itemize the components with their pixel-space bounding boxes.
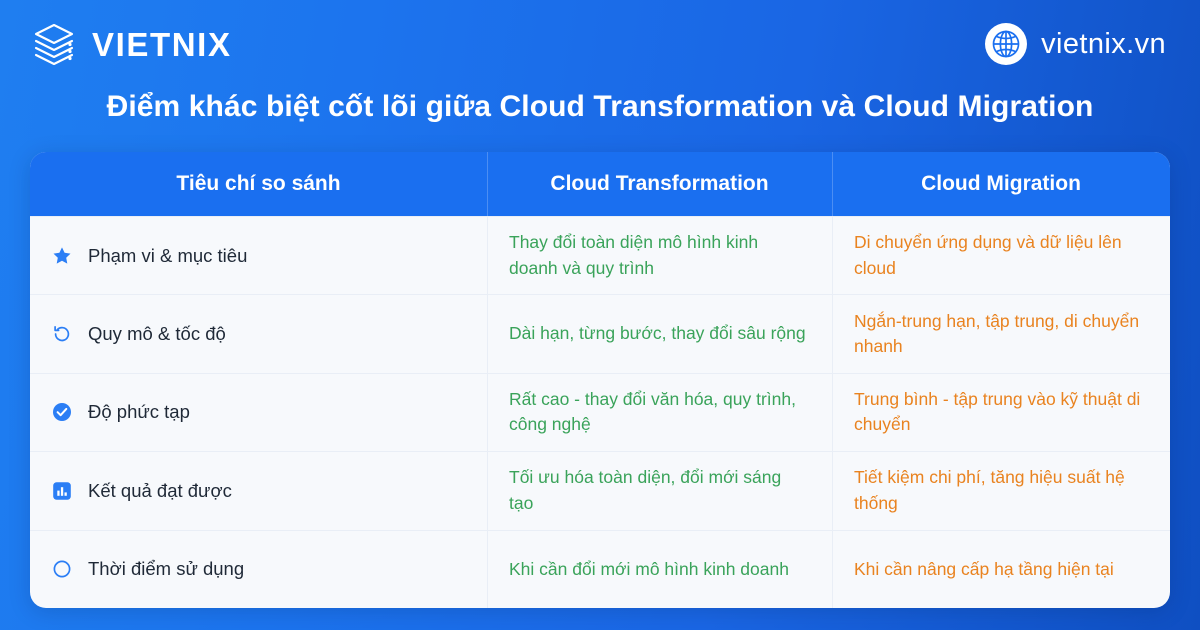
transformation-text: Thay đổi toàn diện mô hình kinh doanh và… (509, 230, 810, 281)
migration-text: Trung bình - tập trung vào kỹ thuật di c… (854, 387, 1148, 438)
criteria-label: Thời điểm sử dụng (88, 558, 244, 580)
criteria-label: Quy mô & tốc độ (88, 323, 226, 345)
stacked-layers-logo-icon (30, 20, 78, 68)
column-header-cloud-transformation: Cloud Transformation (487, 152, 832, 216)
migration-cell: Trung bình - tập trung vào kỹ thuật di c… (832, 374, 1170, 451)
refresh-counterclockwise-icon (52, 324, 72, 344)
migration-text: Ngắn-trung hạn, tập trung, di chuyển nha… (854, 309, 1148, 360)
table-header-row: Tiêu chí so sánh Cloud Transformation Cl… (30, 152, 1170, 216)
migration-cell: Di chuyển ứng dụng và dữ liệu lên cloud (832, 217, 1170, 294)
star-icon (52, 246, 72, 266)
bar-chart-icon (52, 481, 72, 501)
criteria-label: Độ phức tạp (88, 401, 190, 423)
transformation-text: Dài hạn, từng bước, thay đổi sâu rộng (509, 321, 806, 346)
transformation-cell: Tối ưu hóa toàn diện, đổi mới sáng tạo (487, 452, 832, 529)
transformation-cell: Thay đổi toàn diện mô hình kinh doanh và… (487, 217, 832, 294)
table-row: Phạm vi & mục tiêu Thay đổi toàn diện mô… (30, 216, 1170, 294)
migration-cell: Ngắn-trung hạn, tập trung, di chuyển nha… (832, 295, 1170, 372)
check-circle-icon (52, 402, 72, 422)
criteria-label: Kết quả đạt được (88, 480, 232, 502)
criteria-cell: Kết quả đạt được (30, 452, 487, 529)
migration-cell: Khi cần nâng cấp hạ tầng hiện tại (832, 531, 1170, 608)
transformation-cell: Rất cao - thay đổi văn hóa, quy trình, c… (487, 374, 832, 451)
brand-name: VIETNIX (92, 28, 232, 61)
criteria-cell: Độ phức tạp (30, 374, 487, 451)
circle-outline-icon (52, 559, 72, 579)
table-row: Kết quả đạt được Tối ưu hóa toàn diện, đ… (30, 451, 1170, 529)
page-header: VIETNIX vietnix.vn (0, 0, 1200, 88)
transformation-text: Khi cần đổi mới mô hình kinh doanh (509, 557, 789, 582)
page-title: Điểm khác biệt cốt lõi giữa Cloud Transf… (0, 90, 1200, 124)
site-url-text: vietnix.vn (1041, 28, 1166, 61)
globe-icon (985, 23, 1027, 65)
table-row: Quy mô & tốc độ Dài hạn, từng bước, thay… (30, 294, 1170, 372)
transformation-cell: Dài hạn, từng bước, thay đổi sâu rộng (487, 295, 832, 372)
transformation-text: Tối ưu hóa toàn diện, đổi mới sáng tạo (509, 465, 810, 516)
migration-text: Di chuyển ứng dụng và dữ liệu lên cloud (854, 230, 1148, 281)
transformation-text: Rất cao - thay đổi văn hóa, quy trình, c… (509, 387, 810, 438)
table-row: Thời điểm sử dụng Khi cần đổi mới mô hìn… (30, 530, 1170, 608)
criteria-label: Phạm vi & mục tiêu (88, 245, 247, 267)
brand: VIETNIX (30, 20, 232, 68)
comparison-table: Tiêu chí so sánh Cloud Transformation Cl… (30, 152, 1170, 608)
site-url-block[interactable]: vietnix.vn (985, 23, 1166, 65)
migration-text: Tiết kiệm chi phí, tăng hiệu suất hệ thố… (854, 465, 1148, 516)
criteria-cell: Quy mô & tốc độ (30, 295, 487, 372)
criteria-cell: Thời điểm sử dụng (30, 531, 487, 608)
column-header-cloud-migration: Cloud Migration (832, 152, 1170, 216)
migration-cell: Tiết kiệm chi phí, tăng hiệu suất hệ thố… (832, 452, 1170, 529)
table-row: Độ phức tạp Rất cao - thay đổi văn hóa, … (30, 373, 1170, 451)
column-header-criteria: Tiêu chí so sánh (30, 152, 487, 216)
criteria-cell: Phạm vi & mục tiêu (30, 217, 487, 294)
migration-text: Khi cần nâng cấp hạ tầng hiện tại (854, 557, 1114, 582)
transformation-cell: Khi cần đổi mới mô hình kinh doanh (487, 531, 832, 608)
